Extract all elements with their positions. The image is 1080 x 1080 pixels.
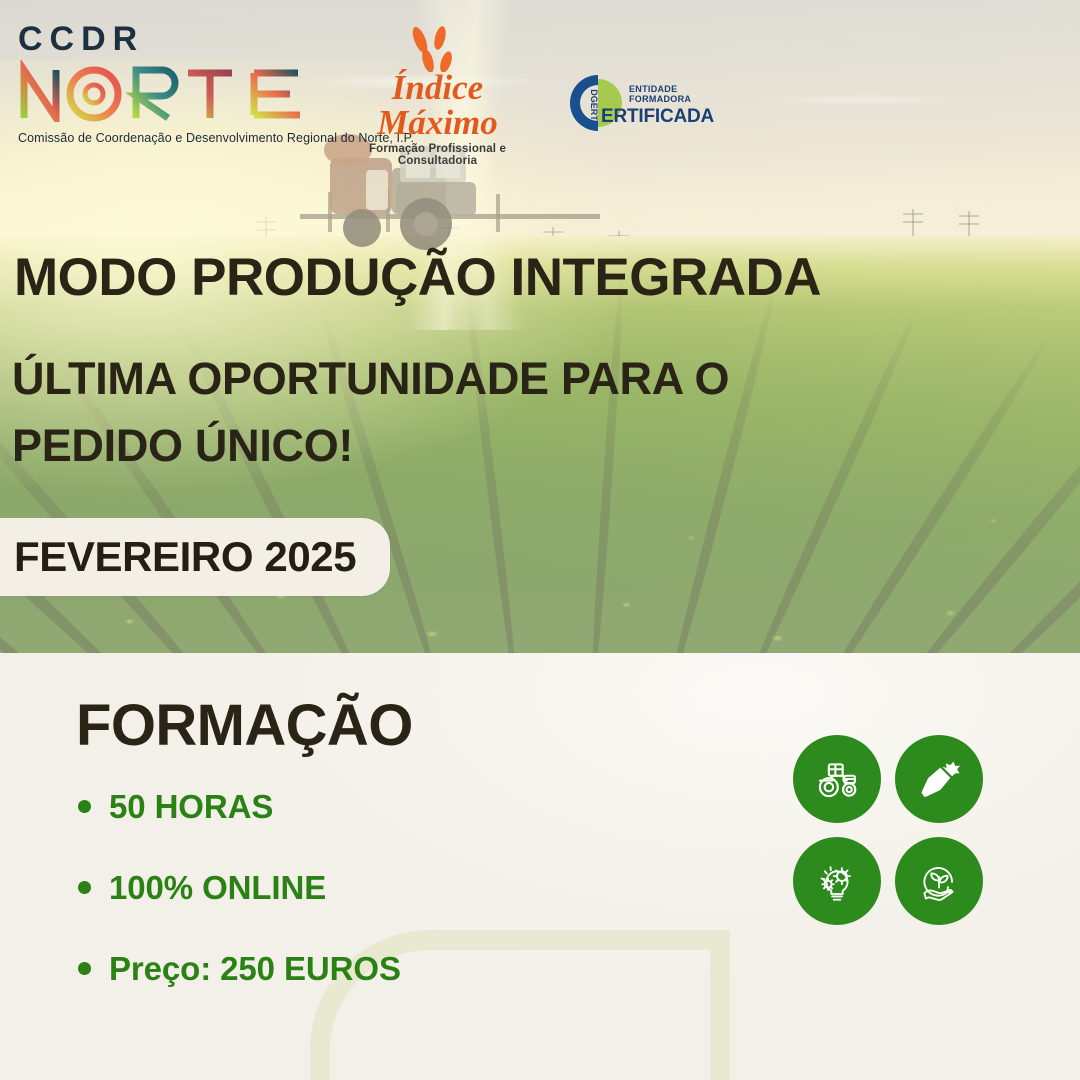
list-item: 100% ONLINE [78,871,401,904]
course-detail-label: 50 HORAS [109,790,273,823]
dgert-certified-badge: DGERT ENTIDADE FORMADORA ERTIFICADA [567,72,697,142]
subheadline-line-2: PEDIDO ÚNICO! [12,422,353,469]
course-details-list: 50 HORAS 100% ONLINE Preço: 250 EUROS [78,790,401,1033]
subheadline-line-1: ÚLTIMA OPORTUNIDADE PARA O [12,355,729,402]
norte-gradient-wordmark-icon [18,60,338,122]
poster-root: CCDR [0,0,1080,1080]
bullet-dot-icon [78,800,91,813]
carrot-icon [895,735,983,823]
logo-strip: CCDR [0,0,1080,150]
dgert-line-2: FORMADORA [629,94,699,104]
lightbulb-gears-innovation-icon [793,837,881,925]
dgert-mark-label: DGERT [589,89,599,121]
date-badge-label: FEVEREIRO 2025 [14,533,356,580]
indice-maximo-petals-icon [378,26,498,72]
dgert-certificada-label: ERTIFICADA [601,106,714,128]
list-item: 50 HORAS [78,790,401,823]
course-detail-label: Preço: 250 EUROS [109,952,401,985]
course-detail-label: 100% ONLINE [109,871,326,904]
feature-icon-grid [793,735,983,925]
ccdr-wordmark: CCDR [18,22,338,56]
tractor-icon [793,735,881,823]
dgert-line-1: ENTIDADE [629,84,699,94]
indice-maximo-tagline: Formação Profissional e Consultadoria [330,143,545,167]
hand-holding-sprout-sustainability-icon [895,837,983,925]
bullet-dot-icon [78,881,91,894]
section-title-formacao: FORMAÇÃO [76,697,413,755]
indice-maximo-logo: Índice Máximo Formação Profissional e Co… [330,26,545,167]
bullet-dot-icon [78,962,91,975]
indice-maximo-name: Índice Máximo [330,70,545,140]
ccdr-norte-logo: CCDR [18,22,338,145]
date-badge: FEVEREIRO 2025 [0,518,390,596]
main-headline: MODO PRODUÇÃO INTEGRADA [14,250,821,306]
ccdr-subtitle: Comissão de Coordenação e Desenvolviment… [18,131,338,145]
list-item: Preço: 250 EUROS [78,952,401,985]
